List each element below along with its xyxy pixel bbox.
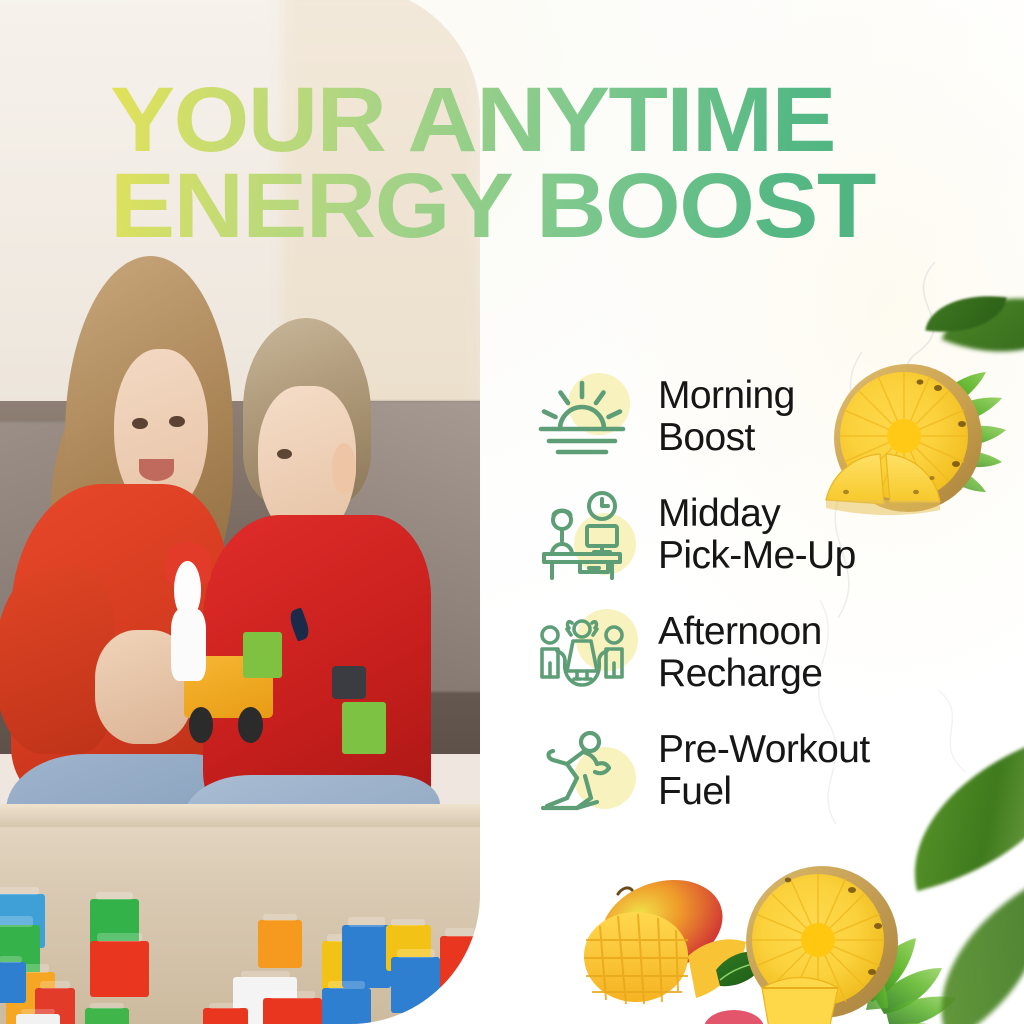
red-fruit-peek: [704, 1010, 764, 1024]
list-item-label-line-2: Boost: [658, 417, 795, 459]
sunrise-icon: [528, 367, 636, 467]
headline-line-2: ENERGY BOOST: [110, 164, 1011, 250]
list-item-label-line-2: Fuel: [658, 771, 870, 813]
running-person-icon: [528, 721, 636, 821]
pineapple-wedge-bottom: [762, 978, 838, 1024]
promo-poster: YOUR ANYTIME ENERGY BOOST: [0, 0, 1024, 1024]
list-item-label: Morning Boost: [658, 375, 795, 459]
list-item-label-line-1: Midday: [658, 492, 780, 535]
mango-cubed: [584, 912, 690, 1004]
list-item: Pre-Workout Fuel: [528, 712, 998, 830]
pineapple-slice-image: [816, 352, 1024, 542]
content-layer: YOUR ANYTIME ENERGY BOOST: [0, 0, 1024, 1024]
list-item: Afternoon Recharge: [528, 594, 998, 712]
desk-clock-icon: [528, 485, 636, 585]
jump-rope-kids-icon: [528, 603, 636, 703]
list-item-label-line-1: Afternoon: [658, 610, 822, 653]
headline-line-1: YOUR ANYTIME: [110, 78, 1011, 164]
list-item-label-line-2: Recharge: [658, 653, 822, 695]
list-item-label-line-1: Pre-Workout: [658, 728, 870, 771]
list-item-label: Afternoon Recharge: [658, 611, 822, 695]
list-item-label: Pre-Workout Fuel: [658, 729, 870, 813]
page-title: YOUR ANYTIME ENERGY BOOST: [110, 78, 1011, 249]
list-item-label-line-1: Morning: [658, 374, 795, 417]
